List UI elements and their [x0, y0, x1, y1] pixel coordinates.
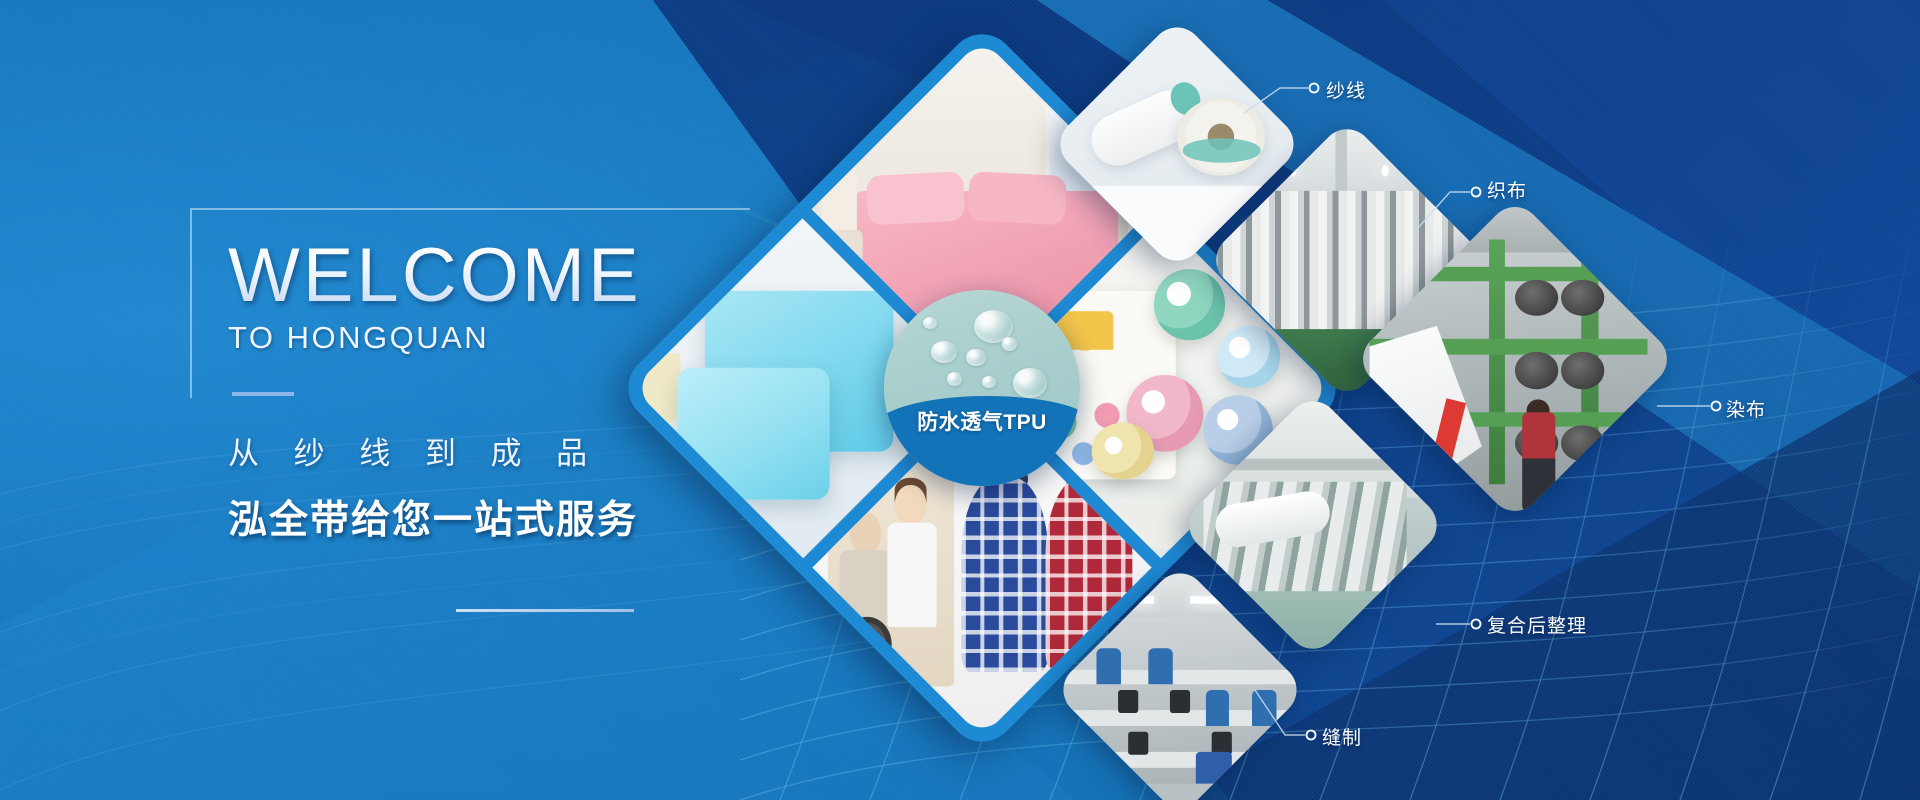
tpu-feature-badge[interactable]: 防水透气TPU — [884, 290, 1080, 486]
process-label-sewing: 缝制 — [1322, 723, 1362, 750]
tpu-badge-label: 防水透气TPU — [884, 406, 1080, 436]
process-label-lamination: 复合后整理 — [1487, 611, 1587, 638]
process-label-dyeing: 染布 — [1726, 395, 1766, 422]
process-label-weaving: 织布 — [1487, 176, 1527, 203]
bottom-divider — [456, 609, 634, 612]
accent-rule — [232, 392, 294, 396]
process-label-yarn: 纱线 — [1326, 76, 1366, 103]
welcome-banner: WELCOME TO HONGQUAN 从 纱 线 到 成 品 泓全带给您一站式… — [0, 0, 1920, 800]
